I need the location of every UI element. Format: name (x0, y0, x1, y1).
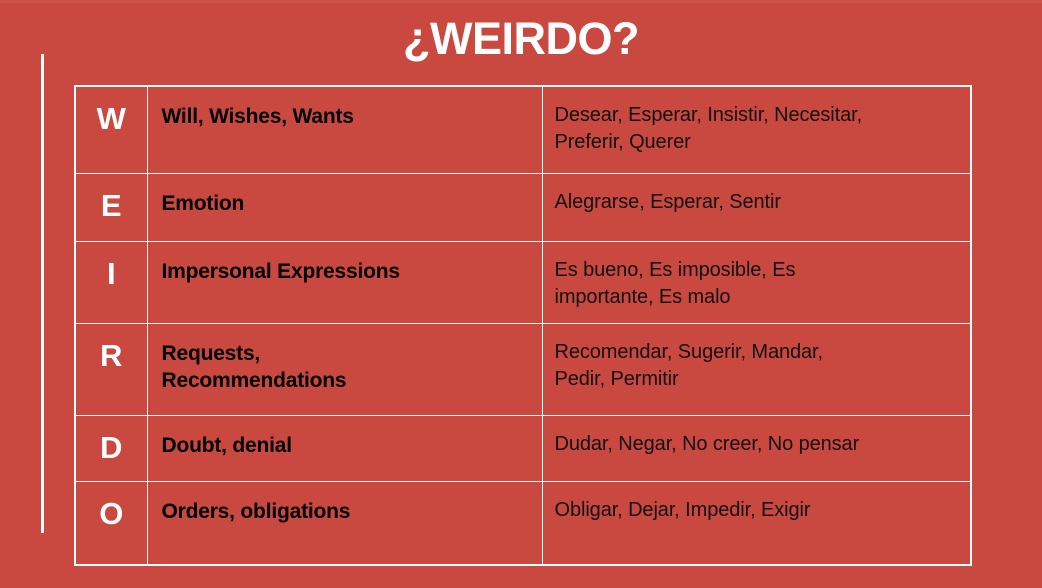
verbs-line: Obligar, Dejar, Impedir, Exigir (555, 497, 959, 524)
table-row: E Emotion Alegrarse, Esperar, Sentir (75, 173, 971, 241)
meaning-line: Emotion (162, 190, 528, 217)
verbs-line: Recomendar, Sugerir, Mandar, (555, 339, 959, 366)
letter-cell: R (75, 323, 147, 415)
letter-cell: E (75, 173, 147, 241)
letter-cell: W (75, 86, 147, 173)
table-row: O Orders, obligations Obligar, Dejar, Im… (75, 481, 971, 565)
verbs-cell: Alegrarse, Esperar, Sentir (542, 173, 971, 241)
verbs-line: Alegrarse, Esperar, Sentir (555, 189, 959, 216)
meaning-line: Doubt, denial (162, 432, 528, 459)
meaning-cell: Emotion (147, 173, 542, 241)
meaning-cell: Impersonal Expressions (147, 241, 542, 323)
meaning-cell: Requests, Recommendations (147, 323, 542, 415)
verbs-line: Pedir, Permitir (555, 366, 959, 393)
weirdo-slide: ¿WEIRDO? W Will, Wishes, Wants Desear, E… (0, 0, 1042, 588)
meaning-line: Orders, obligations (162, 498, 528, 525)
verbs-cell: Es bueno, Es imposible, Es importante, E… (542, 241, 971, 323)
table-row: D Doubt, denial Dudar, Negar, No creer, … (75, 415, 971, 481)
meaning-line: Impersonal Expressions (162, 258, 528, 285)
table-row: I Impersonal Expressions Es bueno, Es im… (75, 241, 971, 323)
meaning-cell: Will, Wishes, Wants (147, 86, 542, 173)
letter-cell: I (75, 241, 147, 323)
weirdo-table-body: W Will, Wishes, Wants Desear, Esperar, I… (75, 86, 971, 565)
weirdo-table-container: W Will, Wishes, Wants Desear, Esperar, I… (74, 85, 970, 564)
table-row: R Requests, Recommendations Recomendar, … (75, 323, 971, 415)
meaning-line: Requests, (162, 340, 528, 367)
weirdo-table: W Will, Wishes, Wants Desear, Esperar, I… (74, 85, 972, 566)
verbs-line: Preferir, Querer (555, 129, 959, 156)
table-row: W Will, Wishes, Wants Desear, Esperar, I… (75, 86, 971, 173)
page-title: ¿WEIRDO? (0, 16, 1042, 61)
verbs-cell: Desear, Esperar, Insistir, Necesitar, Pr… (542, 86, 971, 173)
meaning-cell: Doubt, denial (147, 415, 542, 481)
top-edge-band (0, 0, 1042, 3)
meaning-cell: Orders, obligations (147, 481, 542, 565)
letter-cell: O (75, 481, 147, 565)
verbs-cell: Dudar, Negar, No creer, No pensar (542, 415, 971, 481)
verbs-cell: Recomendar, Sugerir, Mandar, Pedir, Perm… (542, 323, 971, 415)
meaning-line: Recommendations (162, 367, 528, 394)
left-accent-bar (41, 54, 44, 533)
letter-cell: D (75, 415, 147, 481)
verbs-line: Es bueno, Es imposible, Es (555, 257, 959, 284)
verbs-cell: Obligar, Dejar, Impedir, Exigir (542, 481, 971, 565)
verbs-line: importante, Es malo (555, 284, 959, 311)
verbs-line: Desear, Esperar, Insistir, Necesitar, (555, 102, 959, 129)
verbs-line: Dudar, Negar, No creer, No pensar (555, 431, 959, 458)
meaning-line: Will, Wishes, Wants (162, 103, 528, 130)
